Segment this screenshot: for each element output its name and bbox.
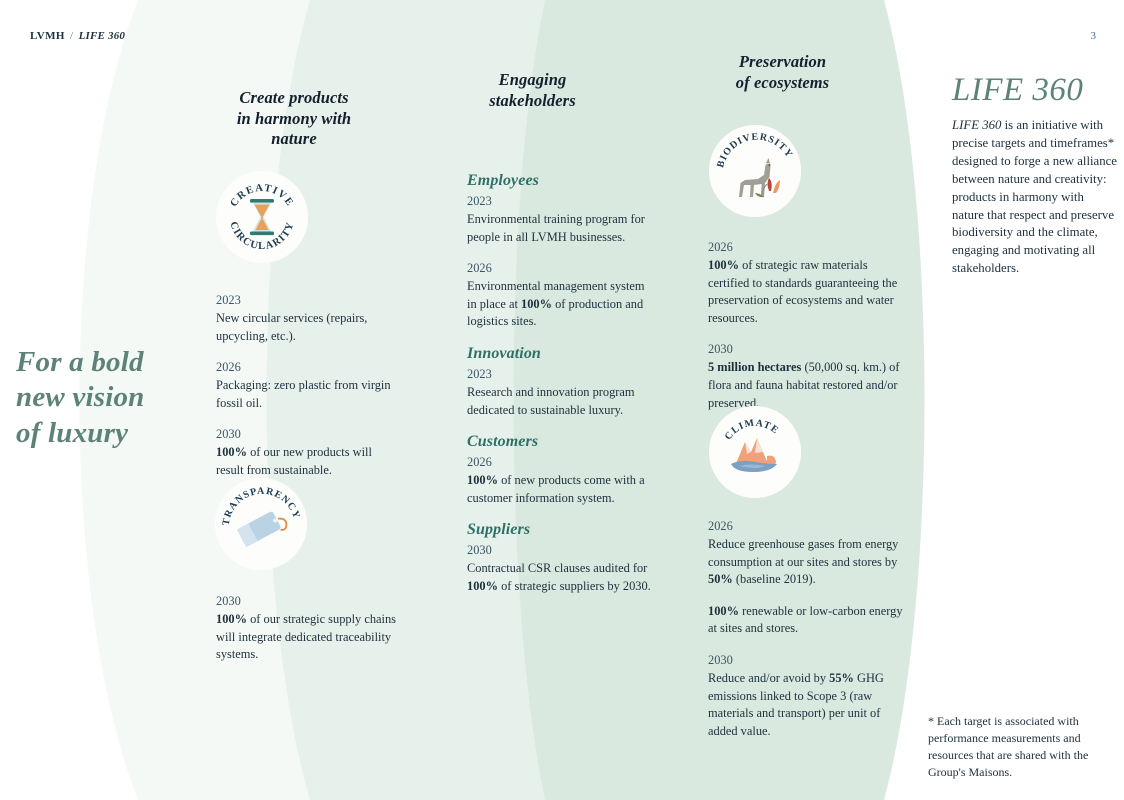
target-item: 2026Reduce greenhouse gases from energy …	[708, 518, 908, 589]
column-1-title: Create productsin harmony withnature	[185, 88, 403, 150]
column-2-title: Engagingstakeholders	[440, 70, 625, 111]
target-item: 100% renewable or low-carbon energy at s…	[708, 603, 908, 638]
target-text: Packaging: zero plastic from virgin foss…	[216, 377, 396, 412]
target-text: Environmental training program for peopl…	[467, 211, 657, 246]
section-subhead: Suppliers	[467, 521, 657, 539]
target-year: 2030	[708, 652, 908, 670]
badge-climate: CLIMATE	[709, 406, 801, 498]
target-text: New circular services (repairs, upcyclin…	[216, 310, 396, 345]
target-year: 2023	[467, 366, 657, 384]
right-panel-title: LIFE 360	[952, 72, 1083, 109]
target-item: 2030100% of our new products will result…	[216, 426, 396, 479]
section-subhead: Innovation	[467, 345, 657, 363]
target-item: 2026100% of strategic raw materials cert…	[708, 239, 903, 327]
target-text: 5 million hectares (50,000 sq. km.) of f…	[708, 359, 903, 412]
section-subhead: Customers	[467, 433, 657, 451]
page-title-text: For a boldnew visionof luxury	[16, 346, 145, 449]
target-item: 2023Research and innovation program dedi…	[467, 366, 657, 419]
target-item: 2030Reduce and/or avoid by 55% GHG emiss…	[708, 652, 908, 740]
column-3-group-1: 2026100% of strategic raw materials cert…	[708, 239, 903, 426]
target-year: 2030	[216, 593, 411, 611]
badge-transparency: TRANSPARENCY	[215, 478, 307, 570]
footnote: * Each target is associated with perform…	[928, 713, 1118, 781]
target-year: 2026	[467, 454, 657, 472]
brand-label: LVMH	[30, 30, 65, 42]
target-text: 100% renewable or low-carbon energy at s…	[708, 603, 908, 638]
page-header: LVMH / LIFE 360	[30, 30, 125, 42]
target-item: 2030100% of our strategic supply chains …	[216, 593, 411, 664]
target-text: Contractual CSR clauses audited for 100%…	[467, 560, 657, 595]
stakeholder-section: Innovation2023Research and innovation pr…	[467, 345, 657, 419]
target-text: Research and innovation program dedicate…	[467, 384, 657, 419]
badge-biodiversity: BIODIVERSITY	[709, 125, 801, 217]
column-1-group-1: 2023New circular services (repairs, upcy…	[216, 292, 396, 494]
target-text: 100% of our new products will result fro…	[216, 444, 396, 479]
section-subhead: Employees	[467, 172, 657, 190]
stakeholder-section: Employees2023Environmental training prog…	[467, 172, 657, 331]
badge-creative-circularity: CREATIVE CIRCULARITY	[216, 171, 308, 263]
column-1-group-2: 2030100% of our strategic supply chains …	[216, 593, 411, 678]
target-item: 2026100% of new products come with a cus…	[467, 454, 657, 507]
target-year: 2026	[216, 359, 396, 377]
target-text: Environmental management system in place…	[467, 278, 657, 331]
target-year: 2030	[467, 542, 657, 560]
page-number: 3	[1091, 30, 1097, 42]
target-text: 100% of strategic raw materials certifie…	[708, 257, 903, 327]
target-item: 2030Contractual CSR clauses audited for …	[467, 542, 657, 595]
target-item: 2023Environmental training program for p…	[467, 193, 657, 246]
target-item: 2023New circular services (repairs, upcy…	[216, 292, 396, 345]
life360-infographic-page: LVMH / LIFE 360 3 For a boldnew visionof…	[0, 0, 1124, 800]
target-year: 2026	[708, 518, 908, 536]
stakeholder-section: Suppliers2030Contractual CSR clauses aud…	[467, 521, 657, 595]
target-item: 2026Environmental management system in p…	[467, 260, 657, 331]
column-2-sections: Employees2023Environmental training prog…	[467, 172, 657, 610]
program-label: LIFE 360	[79, 30, 126, 42]
target-year: 2026	[467, 260, 657, 278]
target-year: 2023	[216, 292, 396, 310]
target-year: 2030	[708, 341, 903, 359]
page-title: For a boldnew visionof luxury	[16, 345, 236, 451]
target-text: 100% of new products come with a custome…	[467, 472, 657, 507]
right-panel-body-rest: is an initiative with precise targets an…	[952, 118, 1117, 275]
column-3-title: Preservationof ecosystems	[690, 52, 875, 93]
target-text: 100% of our strategic supply chains will…	[216, 611, 411, 664]
target-item: 20305 million hectares (50,000 sq. km.) …	[708, 341, 903, 412]
stakeholder-section: Customers2026100% of new products come w…	[467, 433, 657, 507]
target-text: Reduce greenhouse gases from energy cons…	[708, 536, 908, 589]
column-3-group-2: 2026Reduce greenhouse gases from energy …	[708, 518, 908, 754]
right-panel-body-lead: LIFE 360	[952, 118, 1001, 132]
target-year: 2030	[216, 426, 396, 444]
header-separator: /	[68, 30, 75, 42]
target-item: 2026Packaging: zero plastic from virgin …	[216, 359, 396, 412]
right-panel-body: LIFE 360 is an initiative with precise t…	[952, 117, 1117, 278]
target-year: 2023	[467, 193, 657, 211]
target-year: 2026	[708, 239, 903, 257]
target-text: Reduce and/or avoid by 55% GHG emissions…	[708, 670, 908, 740]
